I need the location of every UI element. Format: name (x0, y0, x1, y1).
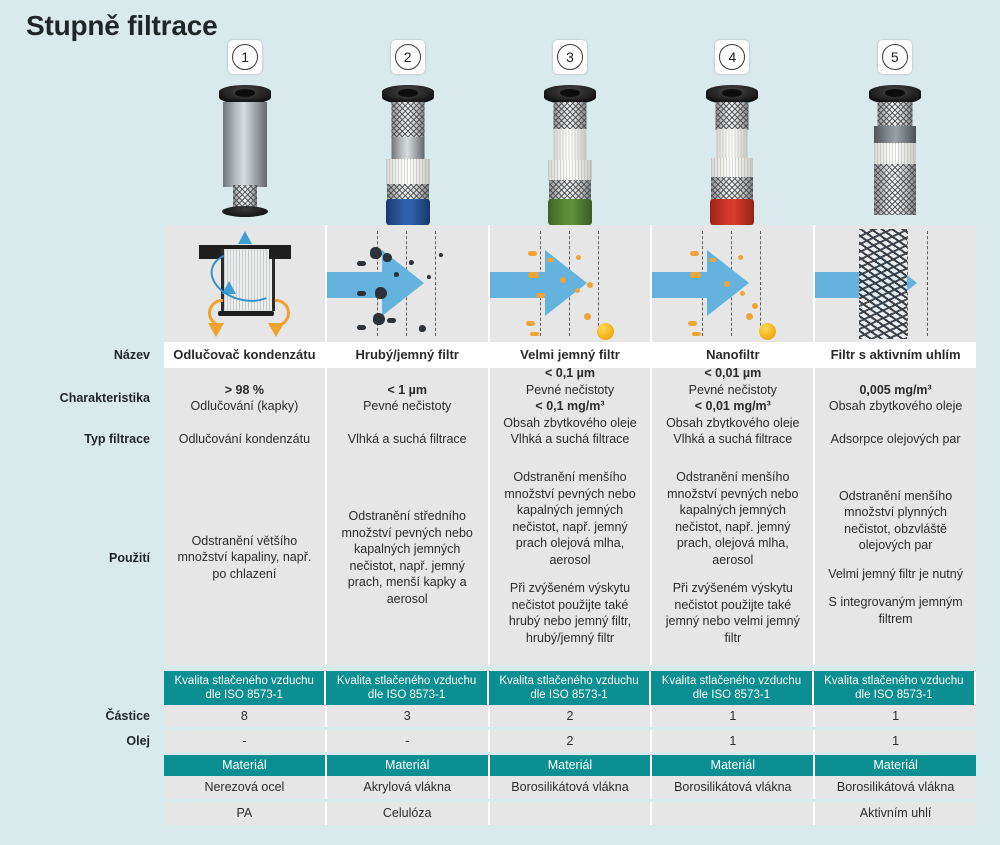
char-value: < 0,1 µm (545, 365, 595, 382)
table-row-filtration-type: Typ filtrace Odlučování kondenzátu Vlhká… (0, 428, 976, 450)
row-label-material-2 (0, 802, 164, 825)
table-row-oil: Olej - - 2 1 1 (0, 730, 976, 752)
cell-name-1: Odlučovač kondenzátu (164, 342, 327, 368)
char-value: > 98 % (225, 382, 264, 399)
char-desc: Pevné nečistoty (526, 382, 614, 399)
oil-droplet-icon (692, 332, 701, 336)
oil-droplet-icon (587, 282, 593, 288)
stage-badge-4-number: 4 (719, 44, 745, 70)
oil-droplet-icon (709, 258, 716, 262)
table-row-name: Název Odlučovač kondenzátu Hrubý/jemný f… (0, 342, 976, 368)
row-label-material-1 (0, 776, 164, 799)
filter-cartridge-3 (540, 85, 600, 225)
table-row-material-1: Nerezová ocel Akrylová vlákna Borosiliká… (0, 776, 976, 799)
cartridge-mesh-section (877, 102, 912, 127)
cell-material1-1: Nerezová ocel (164, 776, 327, 799)
char-value: < 1 µm (387, 382, 427, 399)
material-header-4: Materiál (652, 755, 815, 776)
particle-icon (373, 313, 385, 325)
cartridge-carbon-section (874, 126, 916, 144)
char-value-2: < 0,1 mg/m³ (535, 398, 604, 415)
iso-header-1: Kvalita stlačeného vzduchu dle ISO 8573-… (164, 671, 326, 705)
cell-material1-5: Borosilikátová vlákna (815, 776, 976, 799)
particle-icon (394, 272, 399, 277)
particle-icon (357, 325, 366, 330)
oil-droplet-icon (536, 293, 545, 298)
flow-diagram-coarse-fine (327, 225, 490, 342)
usage-paragraph-2: Velmi jemný filtr je nutný (828, 566, 963, 583)
cell-material2-5: Aktivním uhlí (815, 802, 976, 825)
stage-badge-1: 1 (228, 40, 262, 74)
row-label-filtration-type: Typ filtrace (0, 428, 164, 450)
particle-icon (439, 253, 443, 257)
product-cell-2: 2 (326, 40, 488, 225)
table-row-material-header: Materiál Materiál Materiál Materiál Mate… (0, 755, 976, 776)
cartridge-steel-section (391, 137, 424, 160)
oil-droplet-icon (530, 332, 539, 336)
cartridge-mesh-section (716, 102, 749, 130)
oil-droplet-icon (528, 251, 537, 256)
row-label-name: Název (0, 342, 164, 368)
filter-cartridge-4 (702, 85, 762, 225)
material-header-2: Materiál (327, 755, 490, 776)
stage-badge-5: 5 (878, 40, 912, 74)
char-desc: Odlučování (kapky) (191, 398, 299, 415)
oil-droplet-icon (690, 251, 699, 256)
cell-oil-4: 1 (652, 730, 815, 752)
cell-material2-1: PA (164, 802, 327, 825)
oil-droplet-icon (746, 313, 753, 320)
usage-paragraph-1: Odstranění středního množství pevných ne… (337, 508, 478, 607)
cell-type-4: Vlhká a suchá filtrace (652, 428, 815, 450)
cell-material1-4: Borosilikátová vlákna (652, 776, 815, 799)
cell-char-1: > 98 % Odlučování (kapky) (164, 368, 327, 428)
stage-badge-1-number: 1 (232, 44, 258, 70)
separator-inlet-right (269, 249, 291, 259)
flow-diagram-activated-carbon (815, 225, 976, 342)
oil-droplet-icon (752, 303, 758, 309)
filter-layer-line-3 (760, 231, 761, 336)
cell-particles-1: 8 (164, 705, 327, 727)
cartridge-pleat-section (711, 158, 753, 178)
iso-header-2: Kvalita stlačeného vzduchu dle ISO 8573-… (326, 671, 488, 705)
material-header-5: Materiál (815, 755, 976, 776)
cell-usage-3: Odstranění menšího množství pevných nebo… (490, 450, 653, 665)
oil-droplet-icon (526, 321, 535, 326)
cartridge-white-section (874, 143, 916, 165)
cell-name-2: Hrubý/jemný filtr (327, 342, 490, 368)
cell-type-5: Adsorpce olejových par (815, 428, 976, 450)
oil-droplet-icon (688, 321, 697, 326)
cell-char-2: < 1 µm Pevné nečistoty (327, 368, 490, 428)
cell-particles-3: 2 (490, 705, 653, 727)
cell-oil-1: - (164, 730, 327, 752)
cell-char-3: < 0,1 µm Pevné nečistoty < 0,1 mg/m³ Obs… (490, 368, 653, 428)
flow-diagram-separator (164, 225, 327, 342)
stage-badge-2: 2 (391, 40, 425, 74)
cartridge-white-section (554, 129, 587, 161)
cell-oil-2: - (327, 730, 490, 752)
row-label-characteristic: Charakteristika (0, 368, 164, 428)
particle-icon (409, 260, 414, 265)
stage-badge-3-number: 3 (557, 44, 583, 70)
usage-paragraph-1: Odstranění menšího množství pevných nebo… (662, 469, 803, 568)
filter-cartridge-1 (215, 85, 275, 225)
cartridge-pleat-section (548, 160, 592, 181)
particle-icon (357, 261, 366, 266)
usage-paragraph-1: Odstranění většího množství kapaliny, na… (174, 533, 315, 583)
cartridge-base-blue (386, 199, 430, 225)
cell-oil-3: 2 (490, 730, 653, 752)
cell-type-1: Odlučování kondenzátu (164, 428, 327, 450)
cell-particles-5: 1 (815, 705, 976, 727)
stage-badge-4: 4 (715, 40, 749, 74)
oil-droplet-icon (576, 255, 581, 260)
large-oil-droplet-icon (597, 323, 614, 340)
cell-name-5: Filtr s aktivním uhlím (815, 342, 976, 368)
large-oil-droplet-icon (759, 323, 776, 340)
product-image-strip: 1 2 3 (164, 40, 976, 225)
row-label-usage: Použití (0, 450, 164, 665)
air-flow-arrow-shaft (327, 272, 382, 298)
stage-badge-5-number: 5 (882, 44, 908, 70)
filter-cartridge-5 (865, 85, 925, 225)
usage-paragraph-3: S integrovaným jemným filtrem (825, 594, 966, 627)
product-cell-1: 1 (164, 40, 326, 225)
iso-header-3: Kvalita stlačeného vzduchu dle ISO 8573-… (489, 671, 651, 705)
oil-droplet-icon (584, 313, 591, 320)
condensate-drain-arrow-right (268, 323, 284, 337)
cell-char-5: 0,005 mg/m³ Obsah zbytkového oleje (815, 368, 976, 428)
row-label-particles: Částice (0, 705, 164, 727)
cell-type-2: Vlhká a suchá filtrace (327, 428, 490, 450)
condensate-drain-arrow-left (208, 323, 224, 337)
particle-icon (427, 275, 431, 279)
table-row-particles: Částice 8 3 2 1 1 (0, 705, 976, 727)
flow-diagram-very-fine (490, 225, 653, 342)
cartridge-base-disc (222, 206, 268, 217)
material-header-1: Materiál (164, 755, 327, 776)
oil-droplet-icon (560, 277, 566, 283)
cartridge-base-red (710, 199, 754, 225)
iso-header-4: Kvalita stlačeného vzduchu dle ISO 8573-… (651, 671, 813, 705)
char-value: 0,005 mg/m³ (859, 382, 931, 399)
particle-icon (375, 287, 387, 299)
cell-material2-4 (652, 802, 815, 825)
cell-usage-1: Odstranění většího množství kapaliny, na… (164, 450, 327, 665)
particle-icon (383, 253, 392, 262)
filter-layer-line-3 (598, 231, 599, 336)
particle-icon (387, 318, 396, 323)
cartridge-pleat-section (386, 159, 430, 185)
filter-layer-line-3 (435, 231, 436, 336)
cell-material1-2: Akrylová vlákna (327, 776, 490, 799)
cell-material2-3 (490, 802, 653, 825)
char-desc: Pevné nečistoty (363, 398, 451, 415)
usage-paragraph-2: Při zvýšeném výskytu nečistot použijte t… (500, 580, 641, 646)
iso-header-5: Kvalita stlačeného vzduchu dle ISO 8573-… (814, 671, 976, 705)
usage-paragraph-2: Při zvýšeném výskytu nečistot použijte t… (662, 580, 803, 646)
cartridge-lower-mesh (874, 164, 916, 215)
row-label-oil: Olej (0, 730, 164, 752)
cell-material2-2: Celulóza (327, 802, 490, 825)
specification-table: Název Odlučovač kondenzátu Hrubý/jemný f… (0, 342, 976, 825)
cell-material1-3: Borosilikátová vlákna (490, 776, 653, 799)
oil-droplet-icon (547, 258, 554, 262)
cartridge-mesh-section (391, 102, 424, 138)
cell-type-3: Vlhká a suchá filtrace (490, 428, 653, 450)
usage-paragraph-1: Odstranění menšího množství plynných neč… (825, 488, 966, 554)
row-label-iso (0, 671, 164, 705)
cell-char-4: < 0,01 µm Pevné nečistoty < 0,01 mg/m³ O… (652, 368, 815, 428)
table-row-material-2: PA Celulóza Aktivním uhlí (0, 802, 976, 825)
product-cell-5: 5 (814, 40, 976, 225)
char-value-2: < 0,01 mg/m³ (695, 398, 771, 415)
cartridge-white-section (717, 129, 748, 159)
table-row-usage: Použití Odstranění většího množství kapa… (0, 450, 976, 665)
page-title: Stupně filtrace (26, 10, 217, 42)
cell-usage-4: Odstranění menšího množství pevných nebo… (652, 450, 815, 665)
cell-particles-4: 1 (652, 705, 815, 727)
outflow-arrow-icon (238, 231, 252, 244)
cell-usage-5: Odstranění menšího množství plynných neč… (815, 450, 976, 665)
cell-usage-2: Odstranění středního množství pevných ne… (327, 450, 490, 665)
stage-badge-3: 3 (553, 40, 587, 74)
cell-particles-2: 3 (327, 705, 490, 727)
oil-droplet-icon (575, 288, 580, 293)
table-row-iso-header: Kvalita stlačeného vzduchu dle ISO 8573-… (0, 671, 976, 705)
table-row-characteristic: Charakteristika > 98 % Odlučování (kapky… (0, 368, 976, 428)
particle-icon (370, 247, 382, 259)
product-cell-3: 3 (489, 40, 651, 225)
particle-icon (419, 325, 426, 332)
cartridge-base-green (548, 199, 592, 225)
cartridge-steel-body (223, 102, 267, 187)
material-header-3: Materiál (490, 755, 653, 776)
filter-cartridge-2 (378, 85, 438, 225)
cell-oil-5: 1 (815, 730, 976, 752)
char-desc: Obsah zbytkového oleje (829, 398, 962, 415)
filter-layer-line-2 (927, 231, 928, 336)
char-desc: Pevné nečistoty (689, 382, 777, 399)
oil-droplet-icon (690, 272, 701, 278)
oil-droplet-icon (528, 272, 539, 278)
cartridge-lower-mesh (549, 180, 591, 201)
row-label-material (0, 755, 164, 776)
usage-paragraph-1: Odstranění menšího množství pevných nebo… (500, 469, 641, 568)
cartridge-lower-mesh (711, 177, 753, 201)
particle-icon (357, 291, 366, 296)
char-value: < 0,01 µm (704, 365, 761, 382)
product-cell-4: 4 (651, 40, 813, 225)
activated-carbon-bed (859, 229, 907, 339)
stage-badge-2-number: 2 (395, 44, 421, 70)
flow-diagram-nanofilter (652, 225, 815, 342)
flow-diagram-row (164, 225, 976, 342)
cartridge-mesh-section (554, 102, 587, 130)
